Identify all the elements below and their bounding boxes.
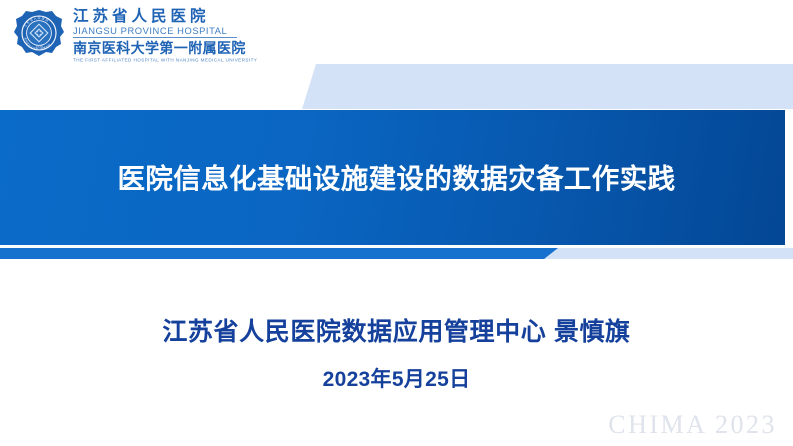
hospital-crest-icon: 江苏省人民医院 南京医科大学第一附属医院 1936 <box>13 9 65 61</box>
presenter-affiliation: 江苏省人民医院数据应用管理中心 景慎旗 <box>0 316 793 348</box>
hospital-name-en-primary: JIANGSU PROVINCE HOSPITAL <box>73 25 257 36</box>
conference-watermark: CHIMA 2023 <box>608 410 777 440</box>
presentation-title-slide: 江苏省人民医院 南京医科大学第一附属医院 1936 江苏省人民医院 JIANGS… <box>0 0 793 446</box>
decorative-light-parallelogram <box>0 64 793 109</box>
slide-main-title: 医院信息化基础设施建设的数据灾备工作实践 <box>0 162 793 196</box>
hospital-name-cn-primary: 江苏省人民医院 <box>73 8 257 25</box>
decorative-blue-rule <box>0 248 572 259</box>
presentation-date: 2023年5月25日 <box>0 366 793 393</box>
hospital-name-cn-secondary: 南京医科大学第一附属医院 <box>73 40 257 56</box>
svg-text:1936: 1936 <box>35 45 43 49</box>
logo-divider <box>73 37 237 38</box>
hospital-logo-lockup: 江苏省人民医院 南京医科大学第一附属医院 1936 江苏省人民医院 JIANGS… <box>13 6 253 64</box>
hospital-name-en-secondary: THE FIRST AFFILIATED HOSPITAL WITH NANJI… <box>73 56 257 63</box>
hospital-name-block: 江苏省人民医院 JIANGSU PROVINCE HOSPITAL 南京医科大学… <box>73 7 257 64</box>
